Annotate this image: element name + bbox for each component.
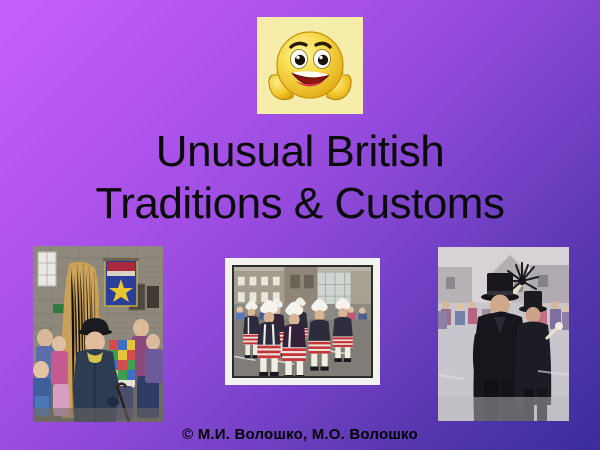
crowd-left	[33, 329, 69, 416]
morris-dancers-scene	[234, 267, 371, 377]
straw-bear-festival-photo	[33, 246, 163, 422]
presentation-slide: Unusual British Traditions & Customs	[0, 0, 600, 450]
title-line-1: Unusual British	[0, 126, 600, 178]
author-credit: © М.И. Волошко, М.О. Волошко	[0, 426, 600, 444]
chimney-sweeps-scene	[438, 247, 569, 421]
smiley-thumbs-up-icon	[264, 23, 356, 109]
chimney-sweeps-photo	[438, 247, 569, 421]
festival-banner	[103, 258, 139, 306]
straw-bear-scene	[33, 246, 163, 422]
page-title: Unusual British Traditions & Customs	[0, 126, 600, 230]
morris-dancers-photo-inner	[232, 265, 373, 378]
morris-dancers-photo	[225, 258, 380, 385]
title-line-2: Traditions & Customs	[0, 178, 600, 230]
smiley-thumbs-up-tile	[257, 17, 363, 114]
